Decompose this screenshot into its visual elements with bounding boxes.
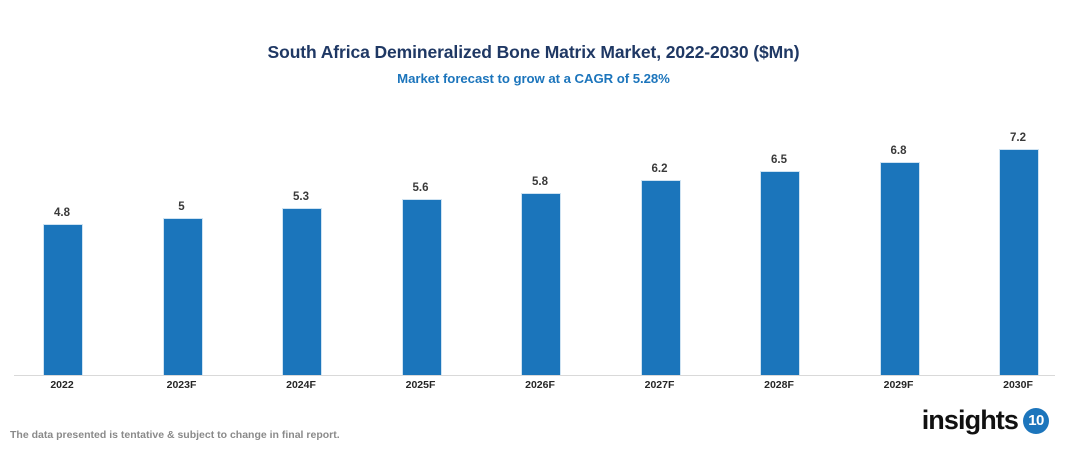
bar-group: 7.22030F [959, 0, 1067, 454]
bar-value-label: 5.6 [402, 182, 440, 194]
bar-value-label: 7.2 [999, 132, 1037, 144]
bar[interactable] [999, 149, 1039, 375]
x-axis-category-label: 2030F [988, 379, 1048, 391]
x-axis-category-label: 2027F [630, 379, 690, 391]
bar[interactable] [521, 193, 561, 375]
bar-value-label: 6.5 [760, 154, 798, 166]
bar-group: 6.82029F [840, 0, 959, 454]
bar[interactable] [163, 218, 203, 375]
x-axis-category-label: 2022 [32, 379, 92, 391]
bar-value-label: 6.2 [641, 163, 679, 175]
x-axis-category-label: 2028F [749, 379, 809, 391]
bar-value-label: 5 [163, 201, 201, 213]
bar-chart-plot-area: 4.8202252023F5.32024F5.62025F5.82026F6.2… [0, 0, 1067, 454]
bar-group: 52023F [123, 0, 242, 454]
insights10-logo: insights 10 [922, 407, 1049, 434]
bar[interactable] [402, 199, 442, 375]
bar-group: 6.22027F [601, 0, 720, 454]
bar-group: 5.32024F [242, 0, 361, 454]
x-axis-category-label: 2023F [152, 379, 212, 391]
bar-group: 6.52028F [720, 0, 839, 454]
x-axis-category-label: 2024F [271, 379, 331, 391]
bar-group: 4.82022 [3, 0, 122, 454]
x-axis-category-label: 2026F [510, 379, 570, 391]
bar[interactable] [880, 162, 920, 376]
bar[interactable] [760, 171, 800, 375]
chart-page: South Africa Demineralized Bone Matrix M… [0, 0, 1067, 454]
bar-value-label: 4.8 [43, 207, 81, 219]
bar[interactable] [282, 208, 322, 375]
bar[interactable] [43, 224, 83, 375]
x-axis-category-label: 2029F [869, 379, 929, 391]
bar-value-label: 5.8 [521, 176, 559, 188]
bar-group: 5.82026F [481, 0, 600, 454]
bar-value-label: 6.8 [880, 145, 918, 157]
bar[interactable] [641, 180, 681, 375]
disclaimer-text: The data presented is tentative & subjec… [10, 429, 340, 441]
bar-value-label: 5.3 [282, 191, 320, 203]
logo-wordmark: insights [922, 407, 1018, 434]
x-axis-category-label: 2025F [391, 379, 451, 391]
logo-badge-icon: 10 [1023, 408, 1049, 434]
bar-group: 5.62025F [362, 0, 481, 454]
